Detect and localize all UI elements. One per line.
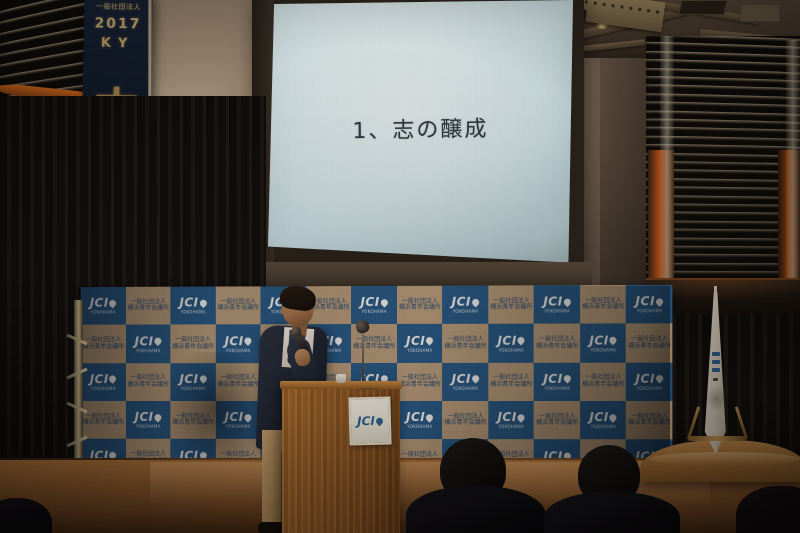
backdrop-tile-jci: JCIYOKOHAMA <box>170 287 216 326</box>
jci-pin-icon <box>198 374 208 384</box>
water-cup <box>336 374 346 383</box>
backdrop-org-line-2: 横浜青年会議所 <box>217 382 259 389</box>
audience-member-shoulders <box>544 492 680 533</box>
jci-pin-icon <box>334 336 344 347</box>
backdrop-org-line-2: 横浜青年会議所 <box>628 343 671 350</box>
backdrop-tile-jci: JCIYOKOHAMA <box>125 401 170 440</box>
jci-wordmark: JCI <box>543 296 562 308</box>
jci-chapter-name: YOKOHAMA <box>637 310 663 314</box>
jci-pin-icon <box>198 298 208 308</box>
jci-pin-icon <box>516 335 527 346</box>
jci-chapter-name: YOKOHAMA <box>591 348 617 352</box>
backdrop-org-line-2: 横浜青年会議所 <box>536 343 578 350</box>
podium-jci-wordmark: JCI <box>357 414 375 428</box>
jci-chapter-name: YOKOHAMA <box>181 311 206 315</box>
jci-chapter-name: YOKOHAMA <box>226 349 251 353</box>
jci-chapter-name: YOKOHAMA <box>362 310 387 314</box>
jci-pin-icon <box>425 335 436 346</box>
jci-wordmark: JCI <box>452 373 471 385</box>
jci-wordmark: JCI <box>180 373 199 385</box>
jci-pin-icon <box>153 412 163 422</box>
jci-wordmark: JCI <box>90 373 109 385</box>
backdrop-tile-jci: JCIYOKOHAMA <box>626 362 672 401</box>
jci-logo: JCI <box>589 412 617 424</box>
backdrop-tile-jci: JCIYOKOHAMA <box>626 285 672 324</box>
backdrop-org-line-2: 横浜青年会議所 <box>172 420 214 427</box>
jci-wordmark: JCI <box>497 411 516 423</box>
jci-pin-icon <box>243 412 253 422</box>
jci-pin-icon <box>470 374 481 385</box>
jci-pin-icon <box>153 336 163 346</box>
backdrop-org-line-2: 横浜青年会議所 <box>128 306 169 313</box>
banner-city: KY <box>83 35 151 51</box>
backdrop-tile-japanese: 一般社団法人横浜青年会議所 <box>442 324 488 363</box>
jci-wordmark: JCI <box>589 334 608 346</box>
flag-marking <box>713 378 718 381</box>
backdrop-tile-japanese: 一般社団法人横浜青年会議所 <box>442 401 488 440</box>
flag-marking <box>712 352 720 356</box>
backdrop-tile-japanese: 一般社団法人横浜青年会議所 <box>125 363 170 402</box>
jci-chapter-name: YOKOHAMA <box>545 387 571 391</box>
backdrop-org-line-2: 横浜青年会議所 <box>582 305 625 312</box>
backdrop-tile-japanese: 一般社団法人横浜青年会議所 <box>626 324 672 363</box>
podium-jci-placard: JCI <box>348 396 391 445</box>
backdrop-tile-japanese: 一般社団法人横浜青年会議所 <box>397 363 443 402</box>
backdrop-org-line-2: 横浜青年会議所 <box>399 305 441 312</box>
backdrop-tile-jci: JCIYOKOHAMA <box>534 285 581 324</box>
jci-logo: JCI <box>497 411 525 423</box>
jci-wordmark: JCI <box>452 296 471 308</box>
backdrop-org-line-2: 横浜青年会議所 <box>128 382 169 389</box>
jci-wordmark: JCI <box>225 335 244 347</box>
jci-logo: JCI <box>225 411 252 423</box>
jci-logo: JCI <box>635 296 663 308</box>
jci-logo: JCI <box>406 335 434 347</box>
jci-wordmark: JCI <box>90 297 109 309</box>
backdrop-tile-japanese: 一般社団法人横浜青年会議所 <box>534 401 581 440</box>
jci-logo: JCI <box>90 373 117 385</box>
backdrop-org-line-2: 横浜青年会議所 <box>172 344 214 351</box>
backdrop-tile-japanese: 一般社団法人横浜青年会議所 <box>397 286 443 325</box>
slide-headline: 1、志の醸成 <box>266 0 575 270</box>
backdrop-org-line-2: 横浜青年会議所 <box>536 421 578 428</box>
jci-pin-icon <box>243 336 253 346</box>
jci-chapter-name: YOKOHAMA <box>453 310 478 314</box>
backdrop-org-line-2: 横浜青年会議所 <box>217 306 259 313</box>
backdrop-org-line-2: 横浜青年会議所 <box>490 305 532 312</box>
jci-logo: JCI <box>360 296 388 308</box>
jci-chapter-name: YOKOHAMA <box>407 349 432 353</box>
ceiling-fixture <box>740 4 780 22</box>
backdrop-tile-jci: JCIYOKOHAMA <box>397 324 443 363</box>
backdrop-tile-japanese: 一般社団法人横浜青年会議所 <box>215 363 261 402</box>
backdrop-tile-jci: JCIYOKOHAMA <box>580 401 627 440</box>
jci-pin-icon <box>108 298 118 308</box>
flag-marking <box>712 360 720 364</box>
backdrop-org-line-2: 横浜青年会議所 <box>582 382 625 389</box>
backdrop-tile-jci: JCIYOKOHAMA <box>534 362 581 401</box>
jci-wordmark: JCI <box>497 335 516 347</box>
jci-pin-icon <box>374 416 384 426</box>
backdrop-tile-jci: JCIYOKOHAMA <box>397 401 443 440</box>
backdrop-tile-jci: JCIYOKOHAMA <box>488 324 534 363</box>
backdrop-org-line-2: 横浜青年会議所 <box>490 382 532 389</box>
backdrop-tile-jci: JCIYOKOHAMA <box>170 363 216 402</box>
jci-pin-icon <box>562 374 573 385</box>
backdrop-tile-jci: JCIYOKOHAMA <box>81 363 126 402</box>
jci-wordmark: JCI <box>180 297 199 309</box>
backdrop-tile-japanese: 一般社団法人横浜青年会議所 <box>580 285 627 324</box>
jci-logo: JCI <box>452 373 480 385</box>
jci-wordmark: JCI <box>360 296 379 308</box>
table-reflection <box>650 452 800 466</box>
jci-pin-icon <box>108 374 118 384</box>
jci-pin-icon <box>608 412 619 423</box>
podium-jci-logo: JCI <box>357 414 383 429</box>
jci-pin-icon <box>470 297 481 308</box>
backdrop-tile-jci: JCIYOKOHAMA <box>442 363 488 402</box>
jci-logo: JCI <box>406 411 434 423</box>
banner-year: 2017 <box>84 15 152 32</box>
microphone-stand-pole <box>362 330 364 386</box>
backdrop-tile-japanese: 一般社団法人横浜青年会議所 <box>170 401 216 440</box>
backdrop-tile-jci: JCIYOKOHAMA <box>215 401 261 440</box>
jci-wordmark: JCI <box>635 296 655 308</box>
jci-logo: JCI <box>543 373 571 385</box>
jci-logo: JCI <box>635 373 663 385</box>
presentation-photo: 1、志の醸成 一般社団法人 2017 KY 未 CREA JCIYOKOHAMA… <box>0 0 800 533</box>
jci-chapter-name: YOKOHAMA <box>91 387 116 391</box>
backdrop-tile-japanese: 一般社団法人横浜青年会議所 <box>125 287 170 326</box>
jci-logo: JCI <box>180 297 207 309</box>
backdrop-tile-japanese: 一般社団法人横浜青年会議所 <box>580 362 627 401</box>
jci-wordmark: JCI <box>135 411 154 423</box>
jci-chapter-name: YOKOHAMA <box>499 349 524 353</box>
backdrop-tile-japanese: 一般社団法人横浜青年会議所 <box>488 362 534 401</box>
jci-wordmark: JCI <box>225 411 244 423</box>
backdrop-org-line-2: 横浜青年会議所 <box>444 420 486 427</box>
backdrop-tile-japanese: 一般社団法人横浜青年会議所 <box>81 401 126 440</box>
jci-pin-icon <box>516 412 527 423</box>
jci-pin-icon <box>654 374 665 385</box>
jci-logo: JCI <box>180 373 207 385</box>
jci-wordmark: JCI <box>135 335 154 347</box>
jci-chapter-name: YOKOHAMA <box>591 426 617 430</box>
flag-marking <box>712 368 720 372</box>
backdrop-tile-jci: JCIYOKOHAMA <box>215 325 261 364</box>
backdrop-tile-japanese: 一般社団法人横浜青年会議所 <box>81 325 126 364</box>
jci-logo: JCI <box>135 411 162 423</box>
backdrop-org-line-2: 横浜青年会議所 <box>399 382 441 389</box>
jci-pin-icon <box>379 297 390 308</box>
audience-member-shoulders <box>406 486 546 533</box>
jci-chapter-name: YOKOHAMA <box>91 311 116 315</box>
jci-wordmark: JCI <box>406 335 425 347</box>
jci-logo: JCI <box>497 334 525 346</box>
wall-pillar <box>660 36 674 286</box>
banner-organization: 一般社団法人 <box>84 1 152 12</box>
jci-chapter-name: YOKOHAMA <box>545 310 571 314</box>
backdrop-org-line-2: 横浜青年会議所 <box>353 344 395 351</box>
backdrop-org-line-2: 横浜青年会議所 <box>83 420 124 427</box>
backdrop-tile-japanese: 一般社団法人横浜青年会議所 <box>626 401 672 440</box>
wall-pillar <box>786 40 800 280</box>
backdrop-tile-japanese: 一般社団法人横浜青年会議所 <box>534 324 581 363</box>
jci-chapter-name: YOKOHAMA <box>136 425 161 429</box>
ceiling-fixture <box>678 0 727 15</box>
jci-wordmark: JCI <box>589 412 608 424</box>
jci-logo: JCI <box>225 335 252 347</box>
backdrop-tile-jci: JCIYOKOHAMA <box>488 401 534 440</box>
jci-chapter-name: YOKOHAMA <box>136 349 161 353</box>
jci-pin-icon <box>608 335 619 346</box>
jci-logo: JCI <box>452 296 480 308</box>
jci-logo: JCI <box>135 335 162 347</box>
jci-chapter-name: YOKOHAMA <box>181 387 206 391</box>
jci-chapter-name: YOKOHAMA <box>407 425 432 429</box>
flag-crest <box>706 386 728 412</box>
backdrop-tile-jci: JCIYOKOHAMA <box>81 287 126 326</box>
jci-pin-icon <box>654 296 665 307</box>
backdrop-tile-jci: JCIYOKOHAMA <box>442 286 488 325</box>
jci-pin-icon <box>562 297 573 308</box>
backdrop-tile-jci: JCIYOKOHAMA <box>580 324 627 363</box>
jci-chapter-name: YOKOHAMA <box>226 425 251 429</box>
backdrop-tile-japanese: 一般社団法人横浜青年会議所 <box>215 286 261 325</box>
backdrop-tile-jci: JCIYOKOHAMA <box>125 325 170 364</box>
jci-wordmark: JCI <box>635 373 655 385</box>
flag-stand-base <box>688 436 746 441</box>
backdrop-org-line-2: 横浜青年会議所 <box>444 344 486 351</box>
jci-logo: JCI <box>90 297 117 309</box>
backdrop-org-line-2: 横浜青年会議所 <box>628 421 671 428</box>
jci-chapter-name: YOKOHAMA <box>453 387 478 391</box>
backdrop-tile-japanese: 一般社団法人横浜青年会議所 <box>170 325 216 364</box>
jci-logo: JCI <box>543 296 571 308</box>
backdrop-org-line-2: 横浜青年会議所 <box>83 344 124 351</box>
backdrop-tile-jci: JCIYOKOHAMA <box>351 286 397 325</box>
jci-chapter-name: YOKOHAMA <box>499 426 524 430</box>
jci-wordmark: JCI <box>406 411 425 423</box>
jci-wordmark: JCI <box>543 373 562 385</box>
backdrop-tile-japanese: 一般社団法人横浜青年会議所 <box>488 285 534 324</box>
jci-logo: JCI <box>589 334 617 346</box>
jci-chapter-name: YOKOHAMA <box>637 387 663 391</box>
jci-pin-icon <box>425 412 436 423</box>
